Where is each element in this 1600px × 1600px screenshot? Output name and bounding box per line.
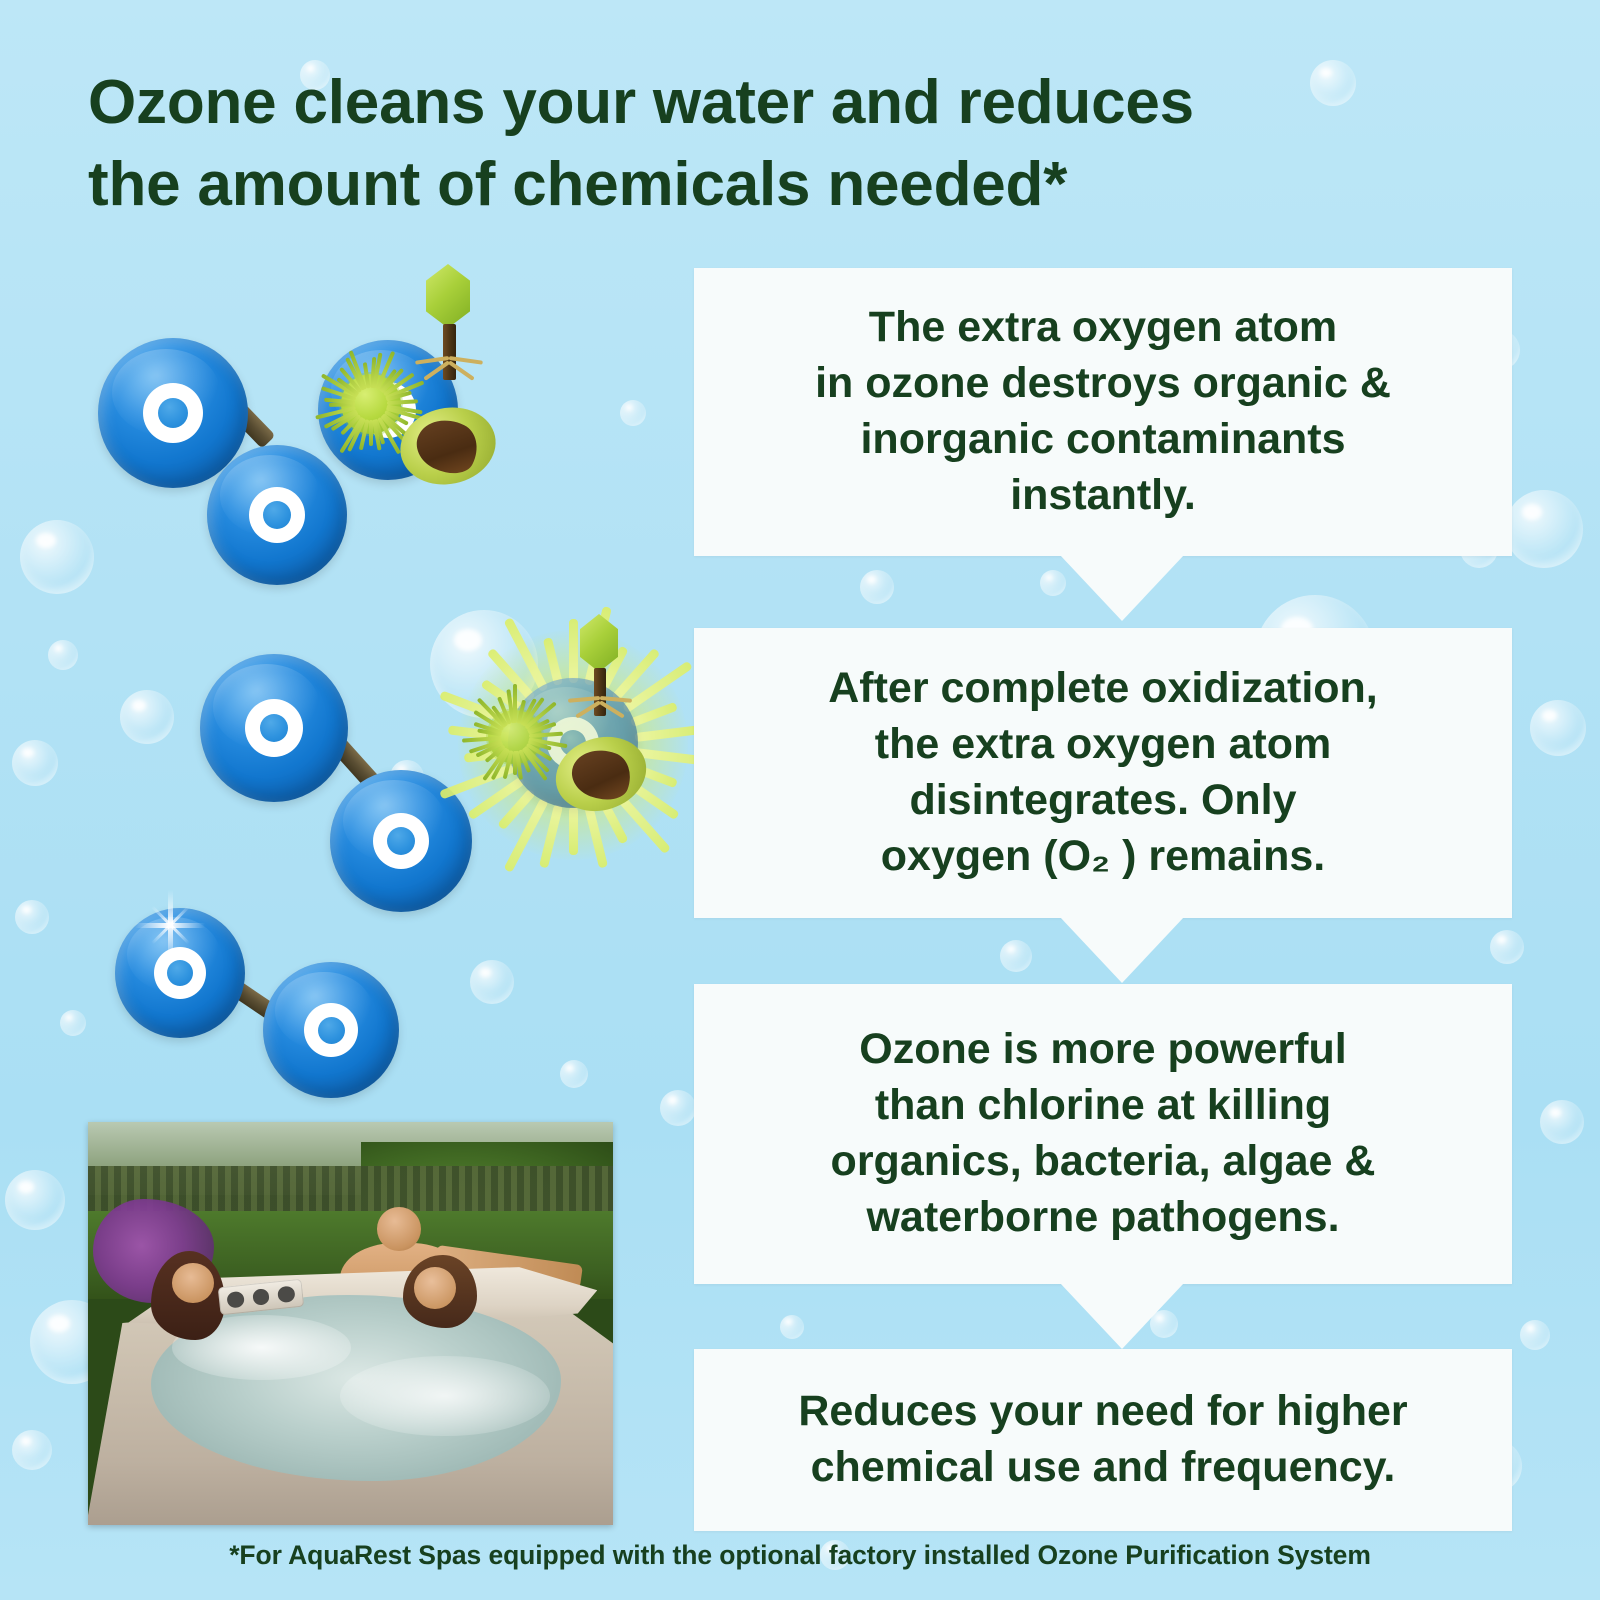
bubble-icon (15, 900, 49, 934)
bubble-icon (660, 1090, 696, 1126)
info-box-1-text: The extra oxygen atom in ozone destroys … (815, 300, 1391, 524)
info-box-4-text: Reduces your need for higher chemical us… (798, 1384, 1407, 1496)
box-connector-arrow-3 (1060, 1283, 1184, 1349)
page-title: Ozone cleans your water and reduces the … (88, 62, 1338, 226)
box-connector-arrow-2 (1060, 917, 1184, 983)
bubble-icon (470, 960, 514, 1004)
bubble-icon (860, 570, 894, 604)
bubble-icon (12, 1430, 52, 1470)
oxygen-molecule-o2-illustration (105, 890, 435, 1110)
hot-tub-family-photo (88, 1122, 613, 1525)
bubble-icon (1520, 1320, 1550, 1350)
bubble-icon (620, 400, 646, 426)
bubble-icon (120, 690, 174, 744)
bubble-icon (48, 640, 78, 670)
page-title-line-1: Ozone cleans your water and reduces (88, 62, 1338, 144)
footnote-text: *For AquaRest Spas equipped with the opt… (0, 1540, 1600, 1571)
sparkle-icon (135, 890, 205, 960)
bubble-icon (60, 1010, 86, 1036)
ozone-molecule-oxidizing-illustration (190, 620, 710, 920)
oxygen-atom-icon (200, 654, 348, 802)
bubble-icon (1490, 930, 1524, 964)
info-box-1: The extra oxygen atom in ozone destroys … (694, 268, 1512, 556)
bubble-icon (20, 520, 94, 594)
info-box-3-text: Ozone is more powerful than chlorine at … (831, 1022, 1376, 1246)
ozone-molecule-o3-illustration (90, 260, 540, 590)
box-connector-arrow-1 (1060, 555, 1184, 621)
info-box-3: Ozone is more powerful than chlorine at … (694, 984, 1512, 1284)
infographic-page: Ozone cleans your water and reduces the … (0, 0, 1600, 1600)
bubble-icon (560, 1060, 588, 1088)
info-box-2: After complete oxidization, the extra ox… (694, 628, 1512, 918)
bubble-icon (1000, 940, 1032, 972)
bubble-icon (12, 740, 58, 786)
bubble-icon (1505, 490, 1583, 568)
info-box-4: Reduces your need for higher chemical us… (694, 1349, 1512, 1531)
oxygen-atom-icon (98, 338, 248, 488)
bubble-icon (1540, 1100, 1584, 1144)
bubble-icon (780, 1315, 804, 1339)
page-title-line-2: the amount of chemicals needed* (88, 144, 1338, 226)
info-box-2-text: After complete oxidization, the extra ox… (828, 661, 1378, 885)
bubble-icon (1530, 700, 1586, 756)
oxygen-atom-icon (207, 445, 347, 585)
bacteriophage-icon (548, 614, 668, 734)
oxygen-atom-icon (263, 962, 399, 1098)
bubble-icon (5, 1170, 65, 1230)
bacteriophage-icon (390, 262, 520, 392)
